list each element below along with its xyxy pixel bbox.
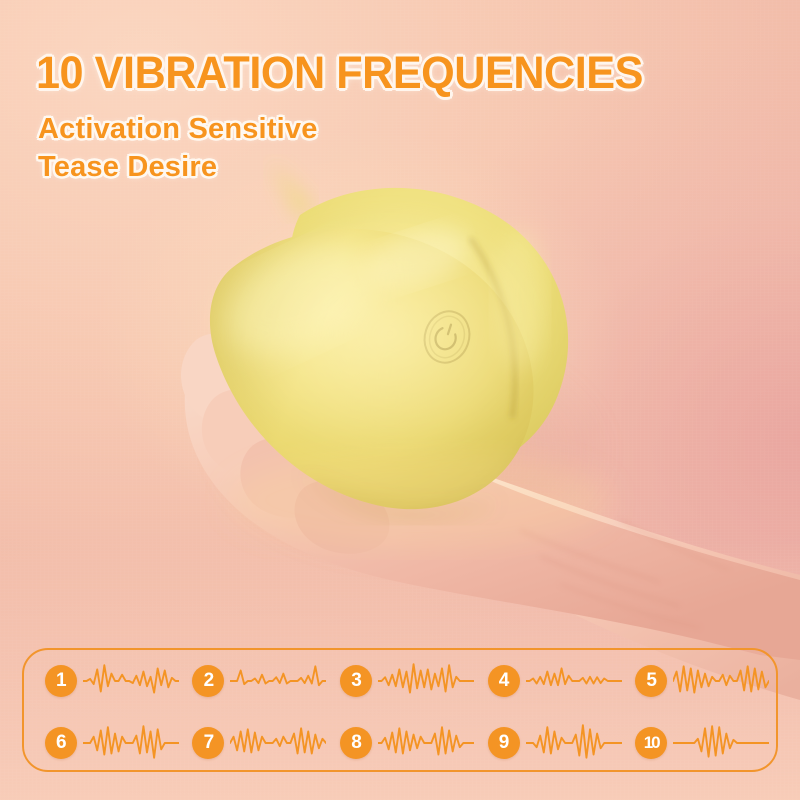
frequency-item: 7	[192, 712, 326, 774]
subtitle-line-1: Activation Sensitive	[38, 112, 318, 146]
page-title: 10 VIBRATION FREQUENCIES	[36, 48, 643, 98]
frequency-item: 3	[340, 650, 474, 712]
product-glow	[175, 185, 605, 515]
frequency-row-top: 12345	[24, 650, 776, 712]
product-marketing-poster: 10 VIBRATION FREQUENCIES Activation Sens…	[0, 0, 800, 800]
frequency-badge-4: 4	[488, 665, 520, 697]
frequency-badge-8: 8	[340, 727, 372, 759]
frequency-badge-5: 5	[635, 665, 667, 697]
waveform-10-icon	[673, 720, 769, 766]
frequency-item: 9	[488, 712, 622, 774]
waveform-6-icon	[83, 720, 179, 766]
frequency-item: 4	[488, 650, 622, 712]
waveform-1-icon	[83, 658, 179, 704]
frequency-badge-9: 9	[488, 727, 520, 759]
frequency-row-bottom: 678910	[24, 712, 776, 774]
waveform-8-icon	[378, 720, 474, 766]
subtitle-line-2: Tease Desire	[38, 150, 217, 184]
waveform-5-icon	[673, 658, 769, 704]
frequency-item: 2	[192, 650, 326, 712]
frequency-badge-7: 7	[192, 727, 224, 759]
frequency-item: 6	[45, 712, 179, 774]
waveform-3-icon	[378, 658, 474, 704]
frequency-badge-3: 3	[340, 665, 372, 697]
frequency-badge-1: 1	[45, 665, 77, 697]
frequency-badge-2: 2	[192, 665, 224, 697]
waveform-2-icon	[230, 658, 326, 704]
frequency-badge-10: 10	[635, 727, 667, 759]
waveform-4-icon	[526, 658, 622, 704]
frequency-item: 5	[635, 650, 769, 712]
waveform-9-icon	[526, 720, 622, 766]
frequency-badge-6: 6	[45, 727, 77, 759]
waveform-7-icon	[230, 720, 326, 766]
frequency-item: 10	[635, 712, 769, 774]
frequency-panel: 12345 678910	[22, 648, 778, 772]
frequency-item: 8	[340, 712, 474, 774]
frequency-item: 1	[45, 650, 179, 712]
